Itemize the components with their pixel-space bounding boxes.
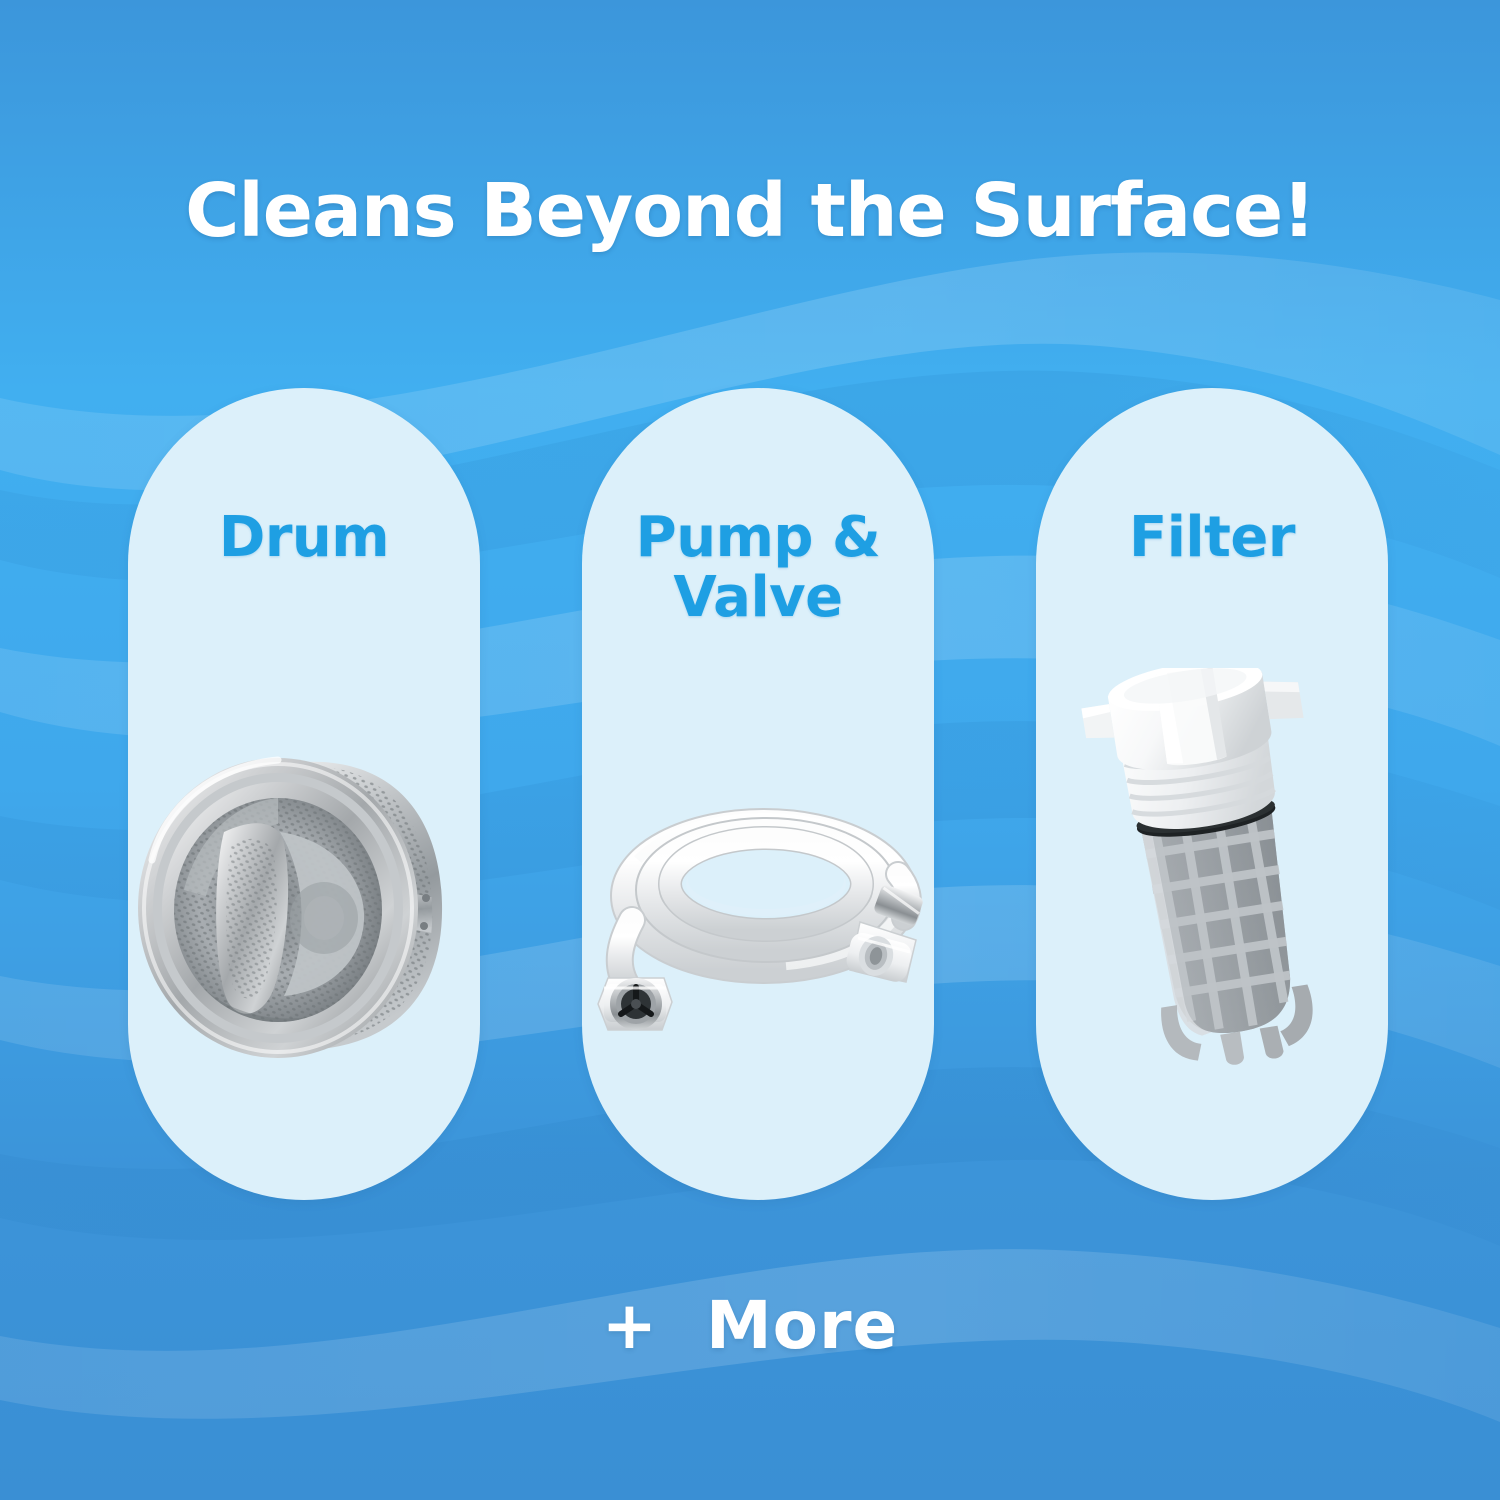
feature-card-row: Drum bbox=[128, 388, 1388, 1200]
page-title: Cleans Beyond the Surface! bbox=[0, 168, 1500, 254]
drain-pump-filter-icon bbox=[1036, 668, 1388, 1068]
card-label-filter: Filter bbox=[1036, 508, 1388, 568]
washing-machine-drum-icon bbox=[128, 740, 480, 1070]
card-label-drum: Drum bbox=[128, 508, 480, 568]
feature-card-drum[interactable]: Drum bbox=[128, 388, 480, 1200]
card-label-pump-valve: Pump & Valve bbox=[582, 508, 934, 629]
feature-card-pump-valve[interactable]: Pump & Valve bbox=[582, 388, 934, 1200]
feature-card-filter[interactable]: Filter bbox=[1036, 388, 1388, 1200]
more-label: + More bbox=[0, 1287, 1500, 1364]
inlet-hose-icon bbox=[582, 778, 934, 1038]
